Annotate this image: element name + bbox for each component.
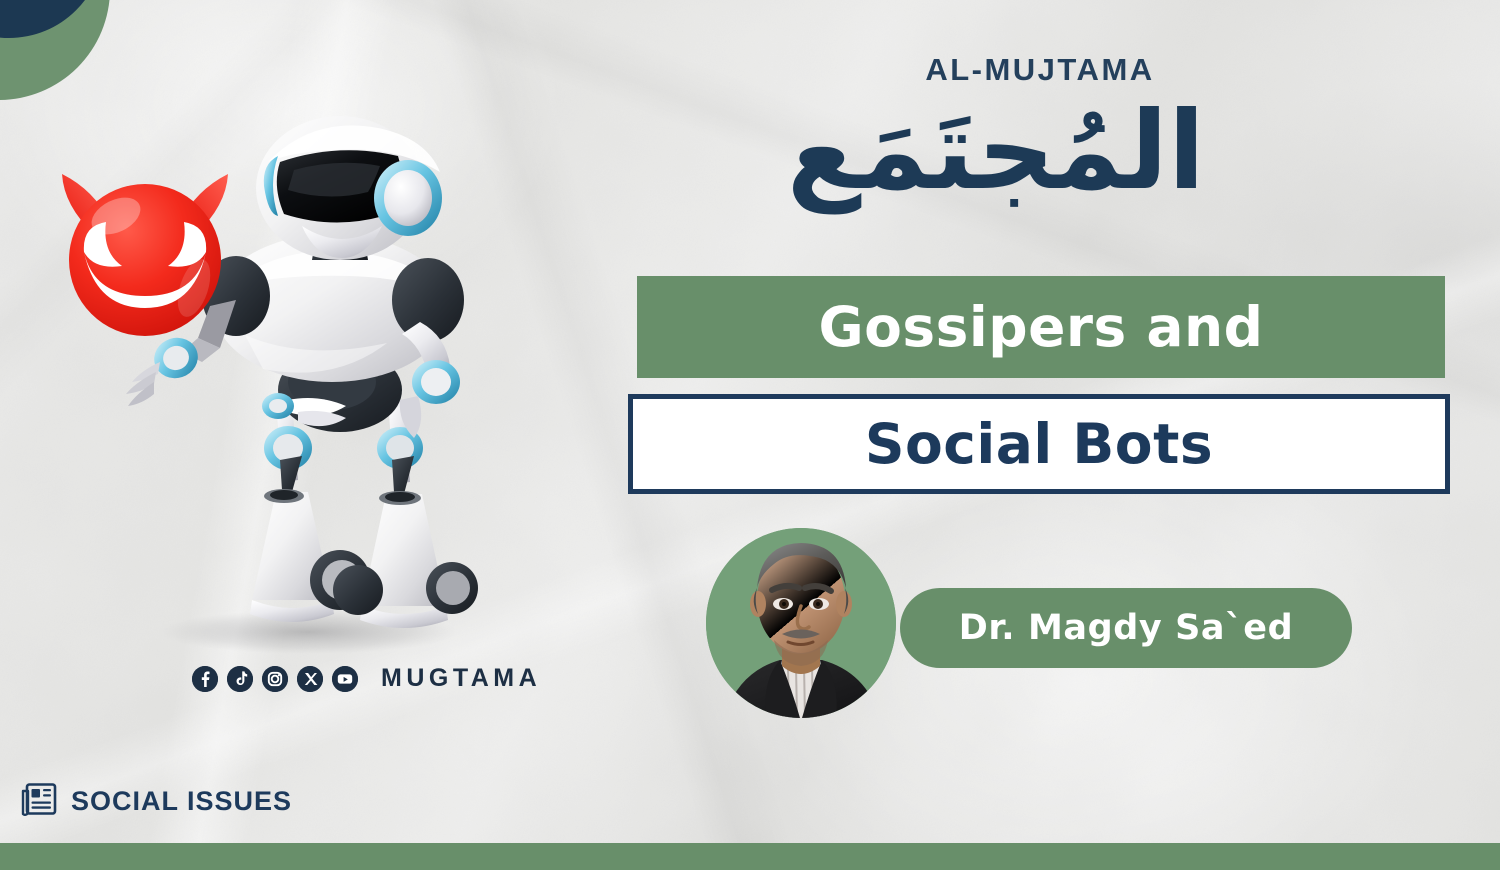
tiktok-icon[interactable] (227, 666, 253, 692)
bottom-green-bar (0, 843, 1500, 870)
instagram-icon[interactable] (262, 666, 288, 692)
devil-emoji-graphic (50, 160, 240, 350)
social-handle-label: MUGTAMA (381, 664, 541, 693)
title-line1-banner: Gossipers and (637, 276, 1445, 378)
author-avatar (706, 528, 896, 718)
avatar-portrait (706, 528, 896, 718)
title-line2-text: Social Bots (865, 412, 1213, 476)
social-media-row[interactable]: MUGTAMA (192, 664, 541, 693)
brand-arabic-logo: المُجتَمَع (875, 92, 1205, 213)
facebook-icon[interactable] (192, 666, 218, 692)
category-badge: SOCIAL ISSUES (20, 782, 292, 821)
x-twitter-icon[interactable] (297, 666, 323, 692)
newspaper-icon (20, 782, 58, 821)
title-line1-text: Gossipers and (818, 295, 1263, 359)
robot-illustration (40, 100, 540, 660)
title-line2-banner: Social Bots (628, 394, 1450, 494)
author-name-text: Dr. Magdy Sa`ed (959, 608, 1293, 648)
author-name-pill: Dr. Magdy Sa`ed (900, 588, 1352, 668)
poster-canvas: AL-MUJTAMA المُجتَمَع Gossipers and Soci… (0, 0, 1500, 870)
youtube-icon[interactable] (332, 666, 358, 692)
category-label: SOCIAL ISSUES (71, 786, 292, 817)
brand-latin-name: AL-MUJTAMA (875, 52, 1205, 88)
